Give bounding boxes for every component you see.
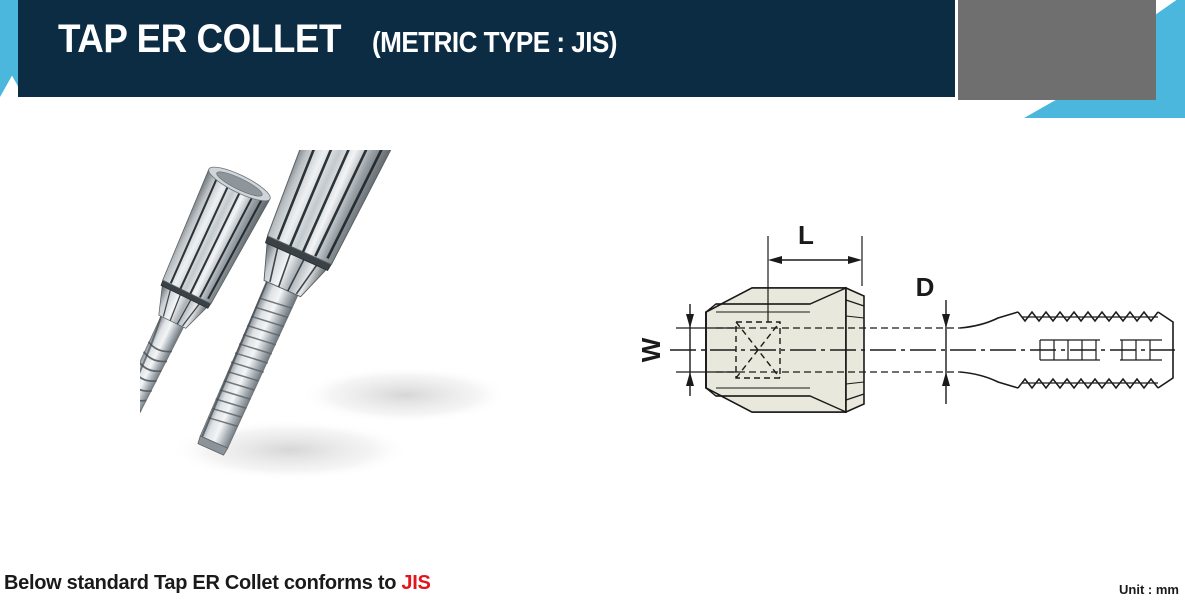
page-header: TAP ER COLLET (METRIC TYPE : JIS) [0, 0, 1185, 130]
dimension-D [942, 300, 950, 404]
product-photo-er-collets [140, 150, 500, 510]
page-title-subtitle: (METRIC TYPE : JIS) [372, 29, 617, 58]
footer-note-standard: JIS [401, 572, 430, 594]
right-cyan-foot-accent [1024, 100, 1156, 118]
dimension-label-D: D [916, 272, 935, 302]
unit-label: Unit : mm [1119, 582, 1179, 597]
footer-note-text: Below standard Tap ER Collet conforms to [4, 572, 401, 594]
dimension-label-L: L [798, 220, 814, 250]
page-title: TAP ER COLLET (METRIC TYPE : JIS) [58, 19, 644, 59]
technical-diagram: L D W [630, 200, 1185, 445]
spiral-flute-tap [140, 313, 185, 453]
page-title-main: TAP ER COLLET [58, 19, 341, 59]
dimension-label-W: W [636, 337, 666, 362]
footer-standard-note: Below standard Tap ER Collet conforms to… [4, 572, 431, 595]
header-gray-image-block [958, 0, 1156, 100]
